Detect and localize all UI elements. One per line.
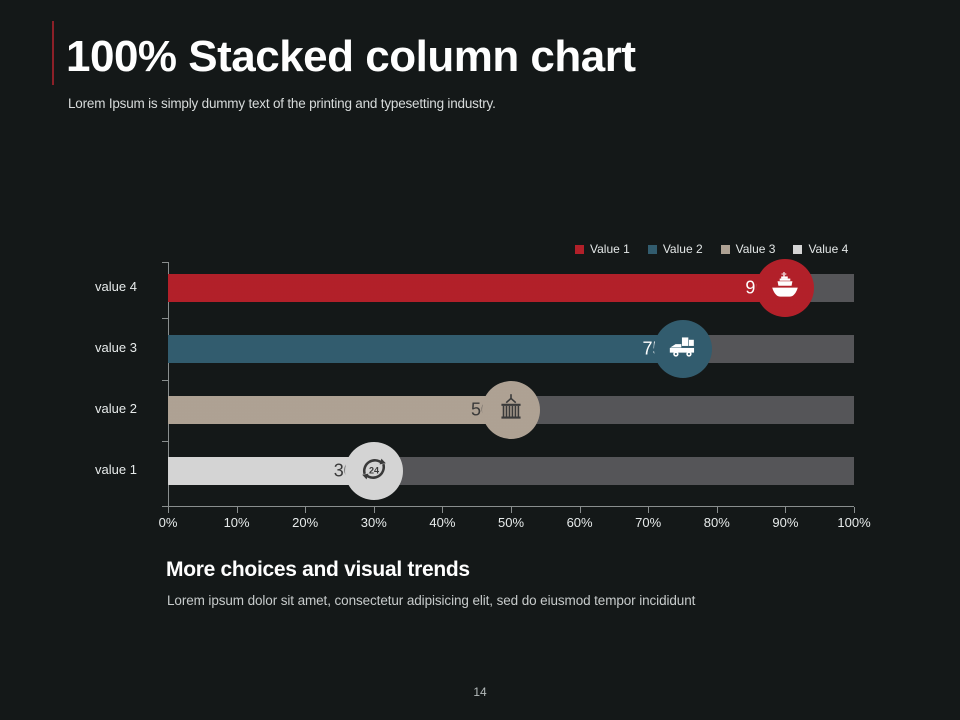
- bar-end-badge[interactable]: [482, 381, 540, 439]
- x-axis-tick: [648, 507, 649, 513]
- horizontal-bar-chart: value 490value 375value 250value 130240%…: [0, 0, 960, 720]
- x-axis-tick: [305, 507, 306, 513]
- x-axis-tick-label: 40%: [429, 515, 455, 530]
- page-number: 14: [0, 685, 960, 699]
- x-axis-tick: [442, 507, 443, 513]
- bar-end-badge[interactable]: [654, 320, 712, 378]
- bar-value-label: 75: [593, 339, 663, 360]
- y-axis-category-label: value 2: [95, 401, 165, 416]
- x-axis-tick-label: 80%: [704, 515, 730, 530]
- svg-text:24: 24: [369, 465, 379, 475]
- x-axis-tick: [511, 507, 512, 513]
- x-axis-tick-label: 10%: [224, 515, 250, 530]
- bar-end-badge[interactable]: [756, 259, 814, 317]
- y-axis-category-label: value 1: [95, 462, 165, 477]
- truck-icon: [666, 330, 700, 369]
- bar-segment[interactable]: [168, 274, 785, 302]
- x-axis-tick-label: 30%: [361, 515, 387, 530]
- y-axis-tick: [162, 380, 168, 381]
- x-axis-tick: [168, 507, 169, 513]
- bar-end-badge[interactable]: 24: [345, 442, 403, 500]
- x-axis-tick: [580, 507, 581, 513]
- bar-value-label: 90: [695, 278, 765, 299]
- bar-value-label: 30: [284, 461, 354, 482]
- footer-body-text: Lorem ipsum dolor sit amet, consectetur …: [167, 591, 742, 610]
- y-axis-category-label: value 4: [95, 279, 165, 294]
- x-axis-tick: [854, 507, 855, 513]
- x-axis-tick: [374, 507, 375, 513]
- x-axis-tick-label: 20%: [292, 515, 318, 530]
- y-axis-category-label: value 3: [95, 340, 165, 355]
- x-axis-tick: [237, 507, 238, 513]
- 24-hour-cycle-icon: 24: [357, 452, 391, 491]
- x-axis-tick-label: 0%: [159, 515, 178, 530]
- y-axis-tick: [162, 318, 168, 319]
- x-axis-tick-label: 60%: [567, 515, 593, 530]
- x-axis-tick: [785, 507, 786, 513]
- x-axis-tick: [717, 507, 718, 513]
- footer-heading: More choices and visual trends: [166, 558, 470, 582]
- x-axis-tick-label: 100%: [837, 515, 870, 530]
- container-icon: [494, 391, 528, 430]
- bar-value-label: 50: [421, 400, 491, 421]
- y-axis-tick: [162, 441, 168, 442]
- x-axis-tick-label: 70%: [635, 515, 661, 530]
- y-axis-tick: [162, 262, 168, 263]
- x-axis-tick-label: 90%: [772, 515, 798, 530]
- ship-icon: [768, 269, 802, 308]
- x-axis-tick-label: 50%: [498, 515, 524, 530]
